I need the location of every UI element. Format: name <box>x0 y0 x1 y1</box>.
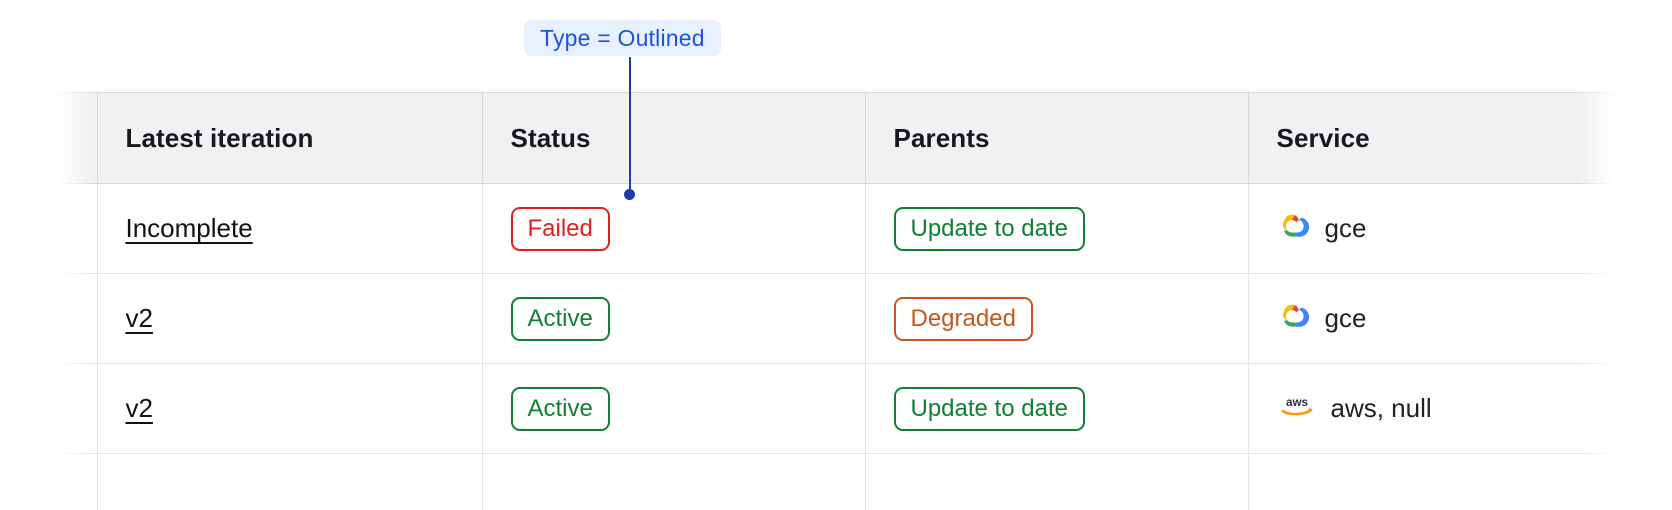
cell-service: gce <box>1248 274 1622 364</box>
parents-badge[interactable]: Degraded <box>894 297 1033 341</box>
status-badge[interactable]: Failed <box>511 207 610 251</box>
column-header-latest-iteration[interactable]: Latest iteration <box>97 93 482 184</box>
google-cloud-icon <box>1277 299 1311 338</box>
data-table: Latest iteration Status Parents Service … <box>50 92 1622 510</box>
cell-latest-iteration: v2 <box>97 274 482 364</box>
service-label: gce <box>1325 213 1367 244</box>
service-value: gce <box>1277 299 1623 338</box>
row-select-cell[interactable] <box>50 454 97 510</box>
table-row[interactable]: v2 Active Update to date aws <box>50 364 1622 454</box>
iteration-link[interactable]: v2 <box>126 393 153 424</box>
row-select-cell[interactable] <box>50 274 97 364</box>
service-value: gce <box>1277 209 1623 248</box>
table-header: Latest iteration Status Parents Service <box>50 93 1622 184</box>
cell-parents: Update to date <box>865 364 1248 454</box>
row-select-cell[interactable] <box>50 184 97 274</box>
cell-status: Active <box>482 274 865 364</box>
google-cloud-icon <box>1277 209 1311 248</box>
column-header-parents[interactable]: Parents <box>865 93 1248 184</box>
cell-latest-iteration: Incomplete <box>97 184 482 274</box>
cell-status: Active <box>482 364 865 454</box>
svg-text:aws: aws <box>1285 396 1307 409</box>
service-label: aws, null <box>1331 393 1432 424</box>
cell-service: gce <box>1248 184 1622 274</box>
status-badge[interactable]: Active <box>511 297 610 341</box>
parents-badge[interactable]: Update to date <box>894 387 1085 431</box>
table-header-row: Latest iteration Status Parents Service <box>50 93 1622 184</box>
cell-status: Failed <box>482 184 865 274</box>
cell-parents <box>865 454 1248 510</box>
column-header-select[interactable] <box>50 93 97 184</box>
column-header-status[interactable]: Status <box>482 93 865 184</box>
table-row[interactable]: v2 Active Degraded <box>50 274 1622 364</box>
status-badge[interactable]: Active <box>511 387 610 431</box>
parents-badge[interactable]: Update to date <box>894 207 1085 251</box>
cell-service: aws aws, null <box>1248 364 1622 454</box>
iteration-link[interactable]: v2 <box>126 303 153 334</box>
service-label: gce <box>1325 303 1367 334</box>
cell-parents: Update to date <box>865 184 1248 274</box>
screenshot-root: Latest iteration Status Parents Service … <box>0 0 1672 510</box>
data-table-container: Latest iteration Status Parents Service … <box>50 92 1622 510</box>
table-body: Incomplete Failed Update to date <box>50 184 1622 510</box>
iteration-link[interactable]: Incomplete <box>126 213 253 244</box>
aws-icon: aws <box>1277 391 1317 426</box>
column-header-service[interactable]: Service <box>1248 93 1622 184</box>
cell-latest-iteration: v2 <box>97 364 482 454</box>
cell-latest-iteration <box>97 454 482 510</box>
table-row[interactable]: Incomplete Failed Update to date <box>50 184 1622 274</box>
cell-service <box>1248 454 1622 510</box>
cell-parents: Degraded <box>865 274 1248 364</box>
annotation-label: Type = Outlined <box>524 20 721 56</box>
table-row[interactable] <box>50 454 1622 510</box>
row-select-cell[interactable] <box>50 364 97 454</box>
cell-status <box>482 454 865 510</box>
service-value: aws aws, null <box>1277 391 1623 426</box>
